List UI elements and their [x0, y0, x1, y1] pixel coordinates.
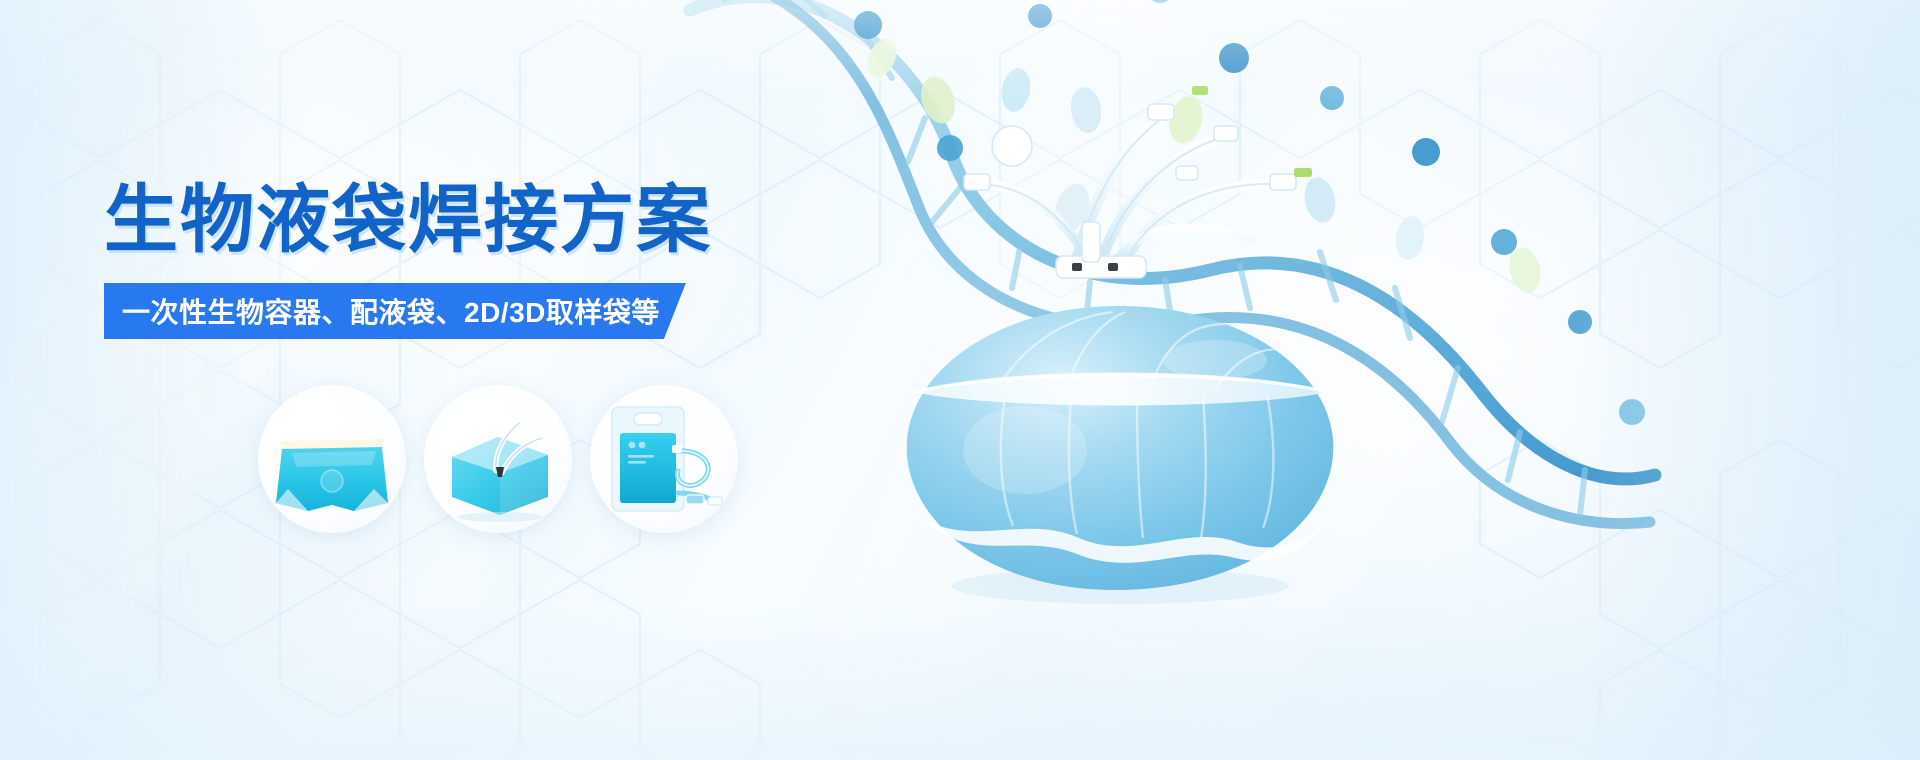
thumb-3d-bioprocess-bag[interactable] [424, 385, 572, 533]
subtitle-text: 一次性生物容器、配液袋、2D/3D取样袋等 [122, 291, 660, 331]
thumb-sampling-bag[interactable] [590, 385, 738, 533]
hexagon-watermark [0, 0, 1920, 760]
bioreactor-bag-image [885, 300, 1355, 600]
product-banner: 生物液袋焊接方案 一次性生物容器、配液袋、2D/3D取样袋等 [0, 0, 1920, 760]
light-streak [693, 0, 1319, 760]
thumb-2d-liquid-bag[interactable] [258, 385, 406, 533]
light-streak [860, 0, 1720, 760]
edge-vignette [0, 0, 1920, 760]
page-title: 生物液袋焊接方案 [104, 182, 864, 259]
light-streak [0, 0, 503, 760]
product-thumbnail-list [258, 385, 738, 533]
light-streak [254, 0, 754, 760]
dna-helix-icon [620, 0, 1680, 530]
light-streaks [0, 0, 1920, 760]
headline-block: 生物液袋焊接方案 [104, 182, 864, 259]
subtitle-ribbon: 一次性生物容器、配液袋、2D/3D取样袋等 [104, 283, 686, 339]
